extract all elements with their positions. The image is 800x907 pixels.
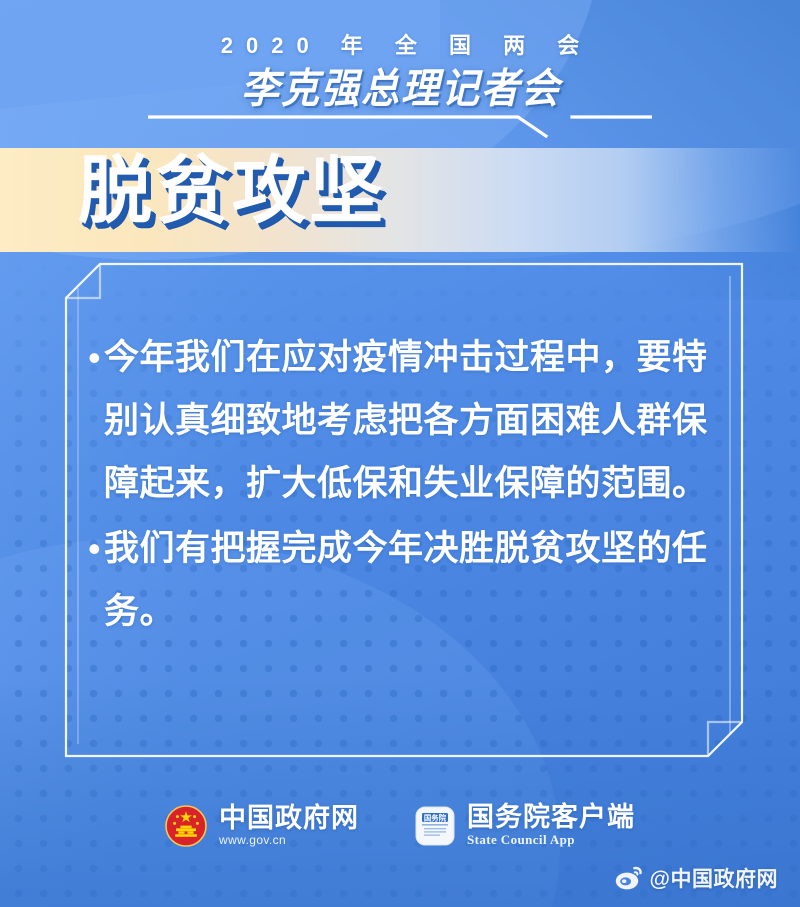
page-title: 脱贫攻坚: [78, 152, 386, 230]
brand-state-council-app: 国务院 国务院客户端 State Council App: [415, 803, 635, 849]
list-item: • 今年我们在应对疫情冲击过程中，要特别认真细致地考虑把各方面困难人群保障起来，…: [82, 326, 722, 515]
bullet-marker-icon: •: [82, 326, 104, 389]
state-council-app-icon: 国务院: [415, 806, 455, 846]
list-item-text: 我们有把握完成今年决胜脱贫攻坚的任务。: [104, 517, 722, 643]
poster-canvas: 2020 年 全 国 两 会 李克强总理记者会 脱贫攻坚 • 今年我们在应对疫情…: [0, 0, 800, 907]
brand-subtitle: State Council App: [467, 832, 635, 849]
weibo-handle: @中国政府网: [650, 863, 778, 893]
event-masthead: 李克强总理记者会: [0, 55, 800, 114]
weibo-icon: [615, 866, 643, 890]
poster-header: 2020 年 全 国 两 会 李克强总理记者会: [0, 0, 800, 148]
brand-text-block: 中国政府网 www.gov.cn: [219, 804, 359, 849]
list-item-text: 今年我们在应对疫情冲击过程中，要特别认真细致地考虑把各方面困难人群保障起来，扩大…: [104, 326, 722, 515]
footer-branding: 中国政府网 www.gov.cn 国务院 国务院客户端 State Counci…: [0, 797, 800, 855]
brand-url: www.gov.cn: [219, 833, 359, 849]
weibo-watermark: @中国政府网: [615, 863, 778, 893]
svg-text:国务院: 国务院: [424, 813, 447, 822]
national-emblem-icon: [165, 805, 207, 847]
brand-name: 国务院客户端: [467, 803, 635, 832]
brand-text-block: 国务院客户端 State Council App: [467, 803, 635, 849]
brand-gov-cn: 中国政府网 www.gov.cn: [165, 804, 359, 849]
statement-list: • 今年我们在应对疫情冲击过程中，要特别认真细致地考虑把各方面困难人群保障起来，…: [82, 326, 722, 645]
bullet-marker-icon: •: [82, 517, 104, 580]
brand-name: 中国政府网: [219, 804, 359, 833]
list-item: • 我们有把握完成今年决胜脱贫攻坚的任务。: [82, 517, 722, 643]
angled-rule-divider-icon: [148, 112, 652, 138]
